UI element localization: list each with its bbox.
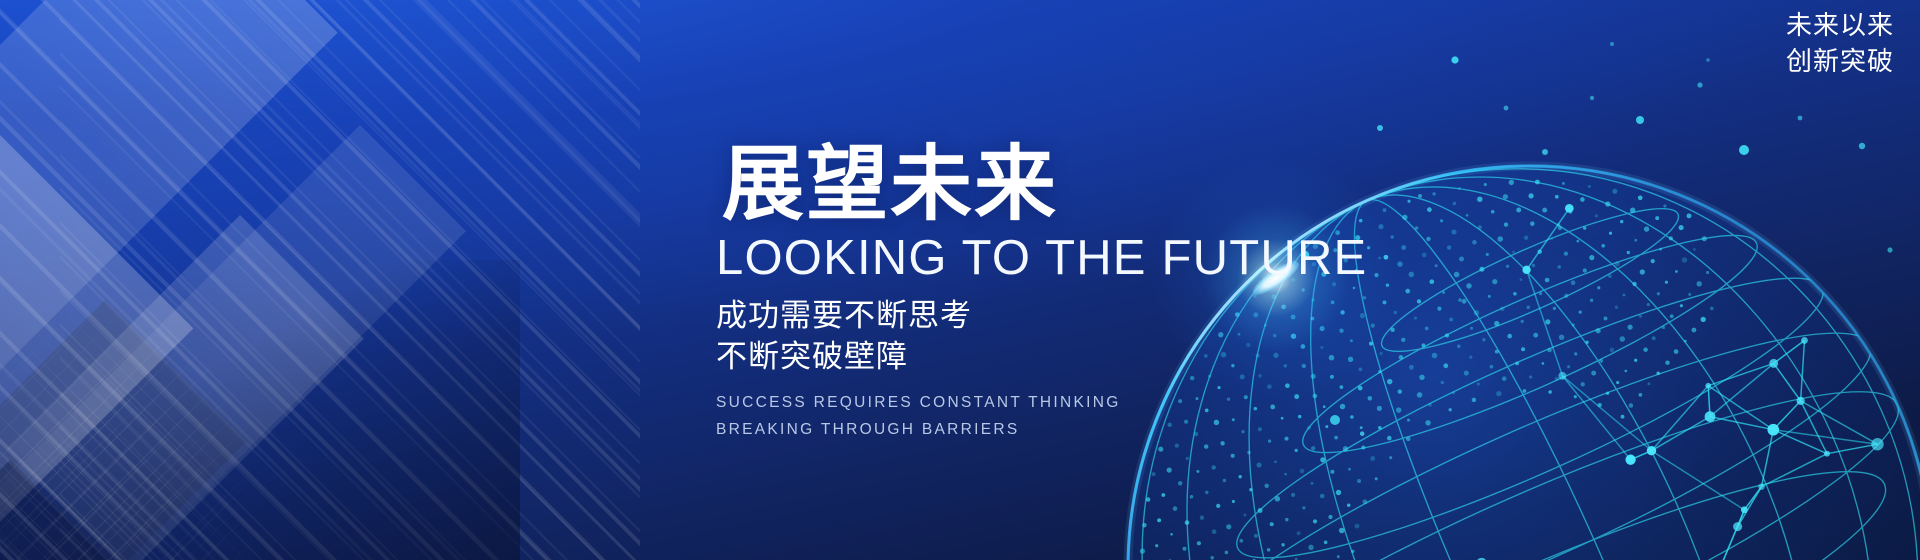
corner-slogan-line-1: 未来以来 bbox=[1786, 8, 1894, 44]
diagonal-stripes-pattern bbox=[0, 0, 640, 560]
geometry-clip bbox=[0, 0, 640, 560]
diamond-grid-pattern-2 bbox=[0, 335, 320, 560]
page-subtitle-en: LOOKING TO THE FUTURE bbox=[716, 232, 1476, 285]
tagline-cn: 成功需要不断思考 不断突破壁障 bbox=[716, 295, 1476, 377]
promo-banner: 未来以来 创新突破 展望未来 LOOKING TO THE FUTURE 成功需… bbox=[0, 0, 1920, 560]
decor-panel-4 bbox=[0, 125, 466, 560]
decor-dark-panel-1 bbox=[0, 300, 246, 560]
tagline-en: SUCCESS REQUIRES CONSTANT THINKING BREAK… bbox=[716, 389, 1476, 443]
tagline-en-line-1: SUCCESS REQUIRES CONSTANT THINKING bbox=[716, 389, 1476, 416]
tagline-cn-line-1: 成功需要不断思考 bbox=[716, 295, 1476, 336]
corner-slogan: 未来以来 创新突破 bbox=[1786, 8, 1894, 80]
page-title: 展望未来 bbox=[722, 144, 1476, 226]
decor-panel-2 bbox=[0, 95, 193, 560]
decor-dark-panel-2 bbox=[0, 460, 116, 560]
tagline-en-line-2: BREAKING THROUGH BARRIERS bbox=[716, 416, 1476, 443]
diamond-grid-pattern bbox=[0, 232, 338, 560]
diagonal-stripes-pattern-wide bbox=[0, 0, 640, 560]
headline-block: 展望未来 LOOKING TO THE FUTURE 成功需要不断思考 不断突破… bbox=[716, 144, 1476, 444]
corner-slogan-line-2: 创新突破 bbox=[1786, 44, 1894, 80]
corner-vignette bbox=[0, 260, 520, 560]
tagline-cn-line-2: 不断突破壁障 bbox=[716, 336, 1476, 377]
decor-panel-3 bbox=[7, 215, 364, 560]
diagonal-stripes-pattern-fine bbox=[60, 0, 640, 560]
decor-panel-1 bbox=[0, 0, 338, 528]
